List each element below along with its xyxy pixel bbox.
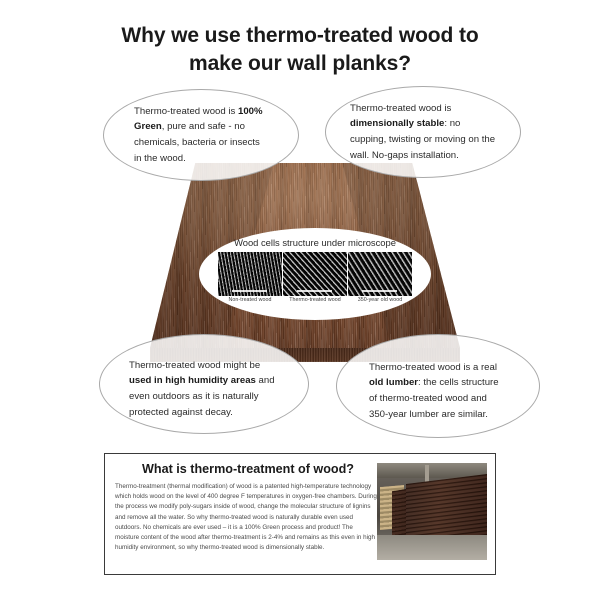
microscope-image-strip — [218, 252, 412, 296]
info-box-title: What is thermo-treatment of wood? — [119, 462, 377, 476]
callout-bubble-stable-text: Thermo-treated wood is dimensionally sta… — [344, 101, 502, 163]
page-title-line-1: Why we use thermo-treated wood to — [60, 22, 540, 50]
microscope-callout: Wood cells structure under microscope No… — [199, 228, 431, 320]
callout-bubble-stable: Thermo-treated wood is dimensionally sta… — [325, 86, 521, 178]
scale-bar-icon — [297, 290, 332, 292]
callout-lumber-text-bold: old lumber — [369, 377, 418, 388]
callout-lumber-text-before: Thermo-treated wood is a real — [369, 362, 497, 373]
callout-bubble-green: Thermo-treated wood is 100% Green, pure … — [103, 89, 299, 181]
photo-floor — [377, 535, 487, 560]
scale-bar-icon — [362, 290, 397, 292]
page-title-line-2: make our wall planks? — [60, 50, 540, 78]
scale-bar-icon — [232, 290, 267, 292]
microscope-caption-thermo-treated: Thermo-treated wood — [283, 297, 347, 303]
microscope-caption-non-treated: Non-treated wood — [218, 297, 282, 303]
callout-bubble-humidity-text: Thermo-treated wood might be used in hig… — [123, 358, 285, 420]
microscope-title: Wood cells structure under microscope — [199, 237, 431, 248]
factory-photo — [377, 463, 487, 560]
callout-bubble-humidity: Thermo-treated wood might be used in hig… — [99, 334, 309, 434]
microscope-caption-350-year: 350-year old wood — [348, 297, 412, 303]
callout-bubble-green-text: Thermo-treated wood is 100% Green, pure … — [128, 104, 274, 166]
info-box-body: Thermo-treatment (thermal modification) … — [115, 482, 377, 553]
microscope-image-non-treated — [218, 252, 282, 296]
microscope-image-350-year — [348, 252, 412, 296]
page-title: Why we use thermo-treated wood to make o… — [60, 22, 540, 77]
callout-humidity-text-before: Thermo-treated wood might be — [129, 360, 260, 371]
microscope-captions: Non-treated wood Thermo-treated wood 350… — [218, 297, 412, 303]
callout-bubble-lumber: Thermo-treated wood is a real old lumber… — [336, 334, 540, 438]
microscope-image-thermo-treated — [283, 252, 347, 296]
info-box: What is thermo-treatment of wood? Thermo… — [104, 453, 496, 575]
callout-green-text-before: Thermo-treated wood is — [134, 106, 238, 117]
callout-humidity-text-bold: used in high humidity areas — [129, 375, 256, 386]
callout-bubble-lumber-text: Thermo-treated wood is a real old lumber… — [363, 360, 513, 422]
callout-stable-text-before: Thermo-treated wood is — [350, 103, 451, 114]
callout-stable-text-bold: dimensionally stable — [350, 118, 444, 129]
